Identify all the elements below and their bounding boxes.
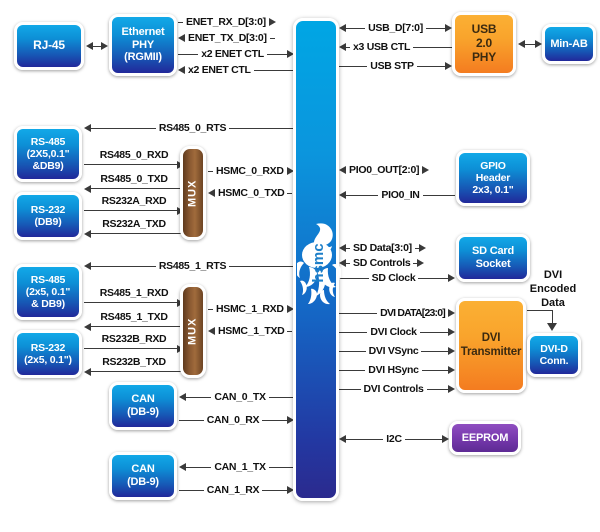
block-rs232-a-line1: RS-232 — [31, 204, 65, 216]
connector-line — [423, 195, 455, 196]
signal-label: I2C — [383, 434, 404, 445]
arrow-left-icon — [339, 166, 346, 174]
signal-label: DVI VSync — [366, 346, 422, 357]
signal-label: HSMC_1_RXD — [213, 304, 287, 315]
block-usb-phy-line3: PHY — [472, 51, 496, 65]
arrow-left-icon — [84, 185, 91, 193]
connector-line — [84, 164, 177, 165]
block-dvi-d-conn-line1: DVI-D — [540, 343, 568, 355]
signal-rs485-1-rts: RS485_1_RTS — [84, 259, 294, 273]
block-usb-phy[interactable]: USB 2.0 PHY — [452, 12, 516, 76]
signal-label: RS485_0_TXD — [84, 174, 184, 185]
block-min-ab-label: Min-AB — [548, 38, 589, 51]
block-eeprom[interactable]: EEPROM — [449, 421, 521, 455]
connector-line — [91, 266, 156, 267]
block-min-ab[interactable]: Min-AB — [542, 24, 596, 64]
block-rs232-b-line2: (2x5, 0.1") — [24, 354, 72, 366]
connector-line — [270, 38, 275, 39]
block-can-0-line1: CAN — [131, 393, 154, 406]
connector-line — [339, 332, 367, 333]
connector-line — [91, 188, 184, 189]
signal-sd-data: SD Data[3:0] — [339, 241, 455, 255]
signal-label: x3 USB CTL — [350, 42, 413, 53]
connector-line — [422, 370, 448, 371]
signal-dvi-data: DVI DATA[23:0] — [339, 306, 455, 320]
block-dvi-d-conn[interactable]: DVI-D Conn. — [527, 333, 581, 377]
block-rs232-a-line2: (DB9) — [35, 216, 62, 228]
arrow-right-icon — [448, 385, 455, 393]
signal-label: CAN_0_RX — [204, 415, 262, 426]
block-usb-phy-line1: USB — [472, 23, 497, 37]
signal-hsmc-1-txd: HSMC_1_TXD — [208, 324, 294, 338]
signal-label: RS485_1_TXD — [84, 312, 184, 323]
block-rs485-1-line3: & DB9) — [31, 298, 65, 310]
connector-line — [417, 66, 445, 67]
block-ethernet-phy-line1: Ethernet — [121, 26, 164, 39]
arrow-down-icon — [547, 323, 557, 331]
signal-label: SD Controls — [350, 258, 413, 269]
signal-rs485-0-rts: RS485_0_RTS — [84, 121, 294, 135]
arrow-left-icon — [84, 323, 91, 331]
signal-label: HSMC_0_RXD — [213, 166, 287, 177]
block-mux-0[interactable]: MUX — [180, 146, 206, 240]
block-can-1-line1: CAN — [131, 463, 154, 476]
block-gpio-header[interactable]: GPIO Header 2x3, 0.1" — [456, 150, 530, 206]
connector-line — [418, 278, 448, 279]
hsmc-logo-icon: hsmc — [296, 217, 342, 312]
block-rs232-b-line1: RS-232 — [31, 342, 65, 354]
signal-rs232a-txd: RS232A_TXD — [84, 219, 184, 238]
signal-label: HSMC_0_TXD — [215, 188, 287, 199]
connector-line — [186, 467, 211, 468]
block-rs232-a[interactable]: RS-232 (DB9) — [14, 192, 82, 240]
block-mux-0-label: MUX — [187, 179, 200, 206]
block-rs485-0[interactable]: RS-485 (2X5,0.1" &DB9) — [14, 126, 82, 182]
connector-line — [91, 326, 184, 327]
block-can-0[interactable]: CAN (DB-9) — [109, 382, 177, 430]
signal-label: x2 ENET CTL — [185, 65, 254, 76]
signal-rs485-1-rxd: RS485_1_RXD — [84, 288, 184, 307]
arrow-right-icon — [535, 40, 542, 48]
signal-pio0-in: PIO0_IN — [339, 188, 455, 202]
connector-dvi-encoded-horizontal — [527, 310, 553, 311]
block-sd-card-line1: SD Card — [472, 245, 514, 258]
signal-label: ENET_RX_D[3:0] — [183, 17, 269, 28]
arrow-right-icon — [448, 309, 455, 317]
arrow-left-icon — [84, 124, 91, 132]
arrow-left-icon — [84, 230, 91, 238]
connector-line — [91, 233, 184, 234]
signal-label: RS232A_TXD — [84, 219, 184, 230]
connector-line — [254, 70, 294, 71]
label-dvi-encoded-line2: Encoded — [530, 283, 576, 295]
connector-line — [269, 467, 294, 468]
arrow-right-icon — [269, 18, 276, 26]
connector-line — [420, 332, 448, 333]
signal-label: SD Data[3:0] — [350, 243, 415, 254]
connector-line — [91, 371, 184, 372]
connector-line — [84, 348, 177, 349]
connector-line — [179, 490, 204, 491]
block-dvi-transmitter-line1: DVI — [482, 332, 501, 345]
arrow-left-icon — [518, 40, 525, 48]
signal-label: RS232B_RXD — [84, 334, 184, 345]
connector-line — [346, 439, 383, 440]
arrow-left-icon — [86, 42, 93, 50]
block-rj45[interactable]: RJ-45 — [14, 22, 84, 70]
signal-label: x2 ENET CTL — [198, 49, 267, 60]
block-diagram: hsmc RJ-45 Ethernet PHY (RGMII) ENET_RX_… — [0, 0, 600, 532]
signal-label: RS485_0_RTS — [156, 123, 229, 134]
arrow-left-icon — [339, 191, 346, 199]
block-ethernet-phy-line2: PHY — [132, 39, 154, 52]
connector-line — [339, 66, 367, 67]
signal-rs232b-txd: RS232B_TXD — [84, 357, 184, 376]
signal-label: HSMC_1_TXD — [215, 326, 287, 337]
block-sd-card-socket[interactable]: SD Card Socket — [456, 234, 530, 282]
connector-line — [339, 389, 361, 390]
block-gpio-header-line1: GPIO — [480, 160, 505, 172]
arrow-right-icon — [445, 62, 452, 70]
signal-usb-d: USB_D[7:0] — [339, 21, 452, 35]
arrow-right-icon — [417, 259, 424, 267]
signal-dvi-clock: DVI Clock — [339, 325, 455, 339]
arrow-right-icon — [448, 366, 455, 374]
block-can-1[interactable]: CAN (DB-9) — [109, 452, 177, 500]
connector-line — [346, 28, 365, 29]
block-sd-card-line2: Socket — [476, 258, 511, 271]
arrow-left-icon — [208, 189, 215, 197]
signal-label: PIO0_OUT[2:0] — [346, 165, 422, 176]
arrow-left-icon — [179, 393, 186, 401]
signal-usb-stp: USB STP — [339, 59, 452, 73]
connector-line — [426, 28, 445, 29]
block-can-0-line2: (DB-9) — [127, 406, 159, 419]
signal-label: ENET_TX_D[3:0] — [185, 33, 270, 44]
signal-label: RS232A_RXD — [84, 196, 184, 207]
signal-dvi-hsync: DVI HSync — [339, 363, 455, 377]
block-gpio-header-line3: 2x3, 0.1" — [472, 184, 513, 196]
signal-pio0-out: PIO0_OUT[2:0] — [339, 163, 455, 177]
connector-line — [346, 195, 378, 196]
block-gpio-header-line2: Header — [476, 172, 510, 184]
signal-i2c: I2C — [339, 432, 449, 446]
connector-usbphy-to-minab — [518, 37, 542, 51]
signal-rs232b-rxd: RS232B_RXD — [84, 334, 184, 353]
connector-line — [267, 54, 287, 55]
connector-line — [262, 490, 287, 491]
signal-hsmc-0-rxd: HSMC_0_RXD — [208, 164, 294, 178]
signal-can-1-rx: CAN_1_RX — [179, 483, 294, 497]
arrow-right-icon — [448, 347, 455, 355]
connector-line — [178, 54, 198, 55]
signal-label: SD Clock — [369, 273, 419, 284]
arrow-left-icon — [208, 327, 215, 335]
hsmc-connector-block[interactable]: hsmc — [293, 18, 339, 501]
connector-line — [427, 389, 449, 390]
connector-line — [287, 331, 292, 332]
signal-label: CAN_1_RX — [204, 485, 262, 496]
signal-label: USB_D[7:0] — [365, 23, 426, 34]
block-dvi-transmitter[interactable]: DVI Transmitter — [456, 298, 526, 393]
signal-hsmc-1-rxd: HSMC_1_RXD — [208, 302, 294, 316]
connector-line — [421, 351, 448, 352]
signal-label: RS232B_TXD — [84, 357, 184, 368]
arrow-left-icon — [84, 262, 91, 270]
block-ethernet-phy-line3: (RGMII) — [124, 51, 162, 64]
block-rs485-1-line1: RS-485 — [31, 274, 65, 286]
signal-hsmc-0-txd: HSMC_0_TXD — [208, 186, 294, 200]
connector-line — [229, 128, 294, 129]
signal-label: PIO0_IN — [378, 190, 422, 201]
signal-sd-controls: SD Controls — [339, 256, 455, 270]
signal-label: DVI HSync — [365, 365, 421, 376]
arrow-right-icon — [448, 328, 455, 336]
signal-rs485-0-txd: RS485_0_TXD — [84, 174, 184, 193]
signal-label: RS485_1_RTS — [156, 261, 229, 272]
signal-sd-clock: SD Clock — [339, 271, 455, 285]
arrow-left-icon — [84, 368, 91, 376]
signal-label: DVI Clock — [367, 327, 419, 338]
block-dvi-transmitter-line2: Transmitter — [461, 346, 521, 359]
connector-line — [93, 46, 101, 47]
block-ethernet-phy[interactable]: Ethernet PHY (RGMII) — [109, 14, 177, 76]
connector-line — [229, 266, 294, 267]
connector-line — [339, 278, 369, 279]
signal-label: CAN_0_TX — [211, 392, 268, 403]
signal-label: DVI Controls — [361, 384, 427, 395]
signal-rs485-0-rxd: RS485_0_RXD — [84, 150, 184, 169]
connector-rj45-to-phy — [86, 39, 108, 53]
arrow-right-icon — [442, 435, 449, 443]
signal-enet-tx-d: ENET_TX_D[3:0] — [178, 31, 294, 45]
arrow-left-icon — [178, 66, 185, 74]
connector-line — [287, 193, 292, 194]
connector-line — [525, 44, 535, 45]
signal-label: USB STP — [367, 61, 416, 72]
signal-dvi-vsync: DVI VSync — [339, 344, 455, 358]
block-can-1-line2: (DB-9) — [127, 476, 159, 489]
signal-usb-ctl: x3 USB CTL — [339, 40, 452, 54]
block-rs485-1-line2: (2x5, 0.1" — [26, 286, 70, 298]
block-eeprom-label: EEPROM — [460, 432, 510, 445]
block-mux-1[interactable]: MUX — [180, 284, 206, 378]
arrow-left-icon — [178, 34, 185, 42]
signal-rs232a-rxd: RS232A_RXD — [84, 196, 184, 215]
connector-line — [413, 47, 452, 48]
signal-rs485-1-txd: RS485_1_TXD — [84, 312, 184, 331]
label-dvi-encoded-line1: DVI — [544, 269, 562, 281]
label-dvi-encoded-line3: Data — [541, 297, 565, 309]
block-rs485-0-line2: (2X5,0.1" — [27, 148, 70, 160]
block-rs485-1[interactable]: RS-485 (2x5, 0.1" & DB9) — [14, 264, 82, 320]
connector-line — [179, 420, 204, 421]
connector-line — [269, 397, 294, 398]
signal-label: DVI DATA[23:0] — [377, 308, 448, 319]
connector-line — [339, 351, 366, 352]
block-rs485-0-line3: &DB9) — [32, 160, 63, 172]
connector-line — [84, 210, 177, 211]
connector-line — [262, 420, 287, 421]
connector-line — [186, 397, 211, 398]
signal-enet-ctl-in: x2 ENET CTL — [178, 63, 294, 77]
connector-line — [405, 439, 442, 440]
connector-line — [91, 128, 156, 129]
signal-enet-ctl-out: x2 ENET CTL — [178, 47, 294, 61]
arrow-left-icon — [339, 43, 346, 51]
connector-line — [84, 302, 177, 303]
connector-line — [339, 313, 377, 314]
block-dvi-d-conn-line2: Conn. — [540, 355, 569, 367]
arrow-right-icon — [419, 244, 426, 252]
signal-label: RS485_0_RXD — [84, 150, 184, 161]
signal-label: RS485_1_RXD — [84, 288, 184, 299]
signal-can-0-rx: CAN_0_RX — [179, 413, 294, 427]
arrow-left-icon — [339, 435, 346, 443]
svg-text:hsmc: hsmc — [310, 243, 327, 282]
block-rj45-label: RJ-45 — [31, 39, 67, 53]
arrow-right-icon — [422, 166, 429, 174]
arrow-right-icon — [448, 274, 455, 282]
signal-label: CAN_1_TX — [211, 462, 268, 473]
connector-line — [339, 370, 365, 371]
arrow-right-icon — [445, 24, 452, 32]
signal-dvi-controls: DVI Controls — [339, 382, 455, 396]
signal-can-0-tx: CAN_0_TX — [179, 390, 294, 404]
block-rs485-0-line1: RS-485 — [31, 136, 65, 148]
signal-can-1-tx: CAN_1_TX — [179, 460, 294, 474]
block-rs232-b[interactable]: RS-232 (2x5, 0.1") — [14, 330, 82, 378]
arrow-right-icon — [101, 42, 108, 50]
signal-enet-rx-d: ENET_RX_D[3:0] — [178, 15, 294, 29]
block-mux-1-label: MUX — [187, 317, 200, 344]
arrow-left-icon — [179, 463, 186, 471]
block-usb-phy-line2: 2.0 — [476, 37, 492, 51]
arrow-left-icon — [339, 24, 346, 32]
